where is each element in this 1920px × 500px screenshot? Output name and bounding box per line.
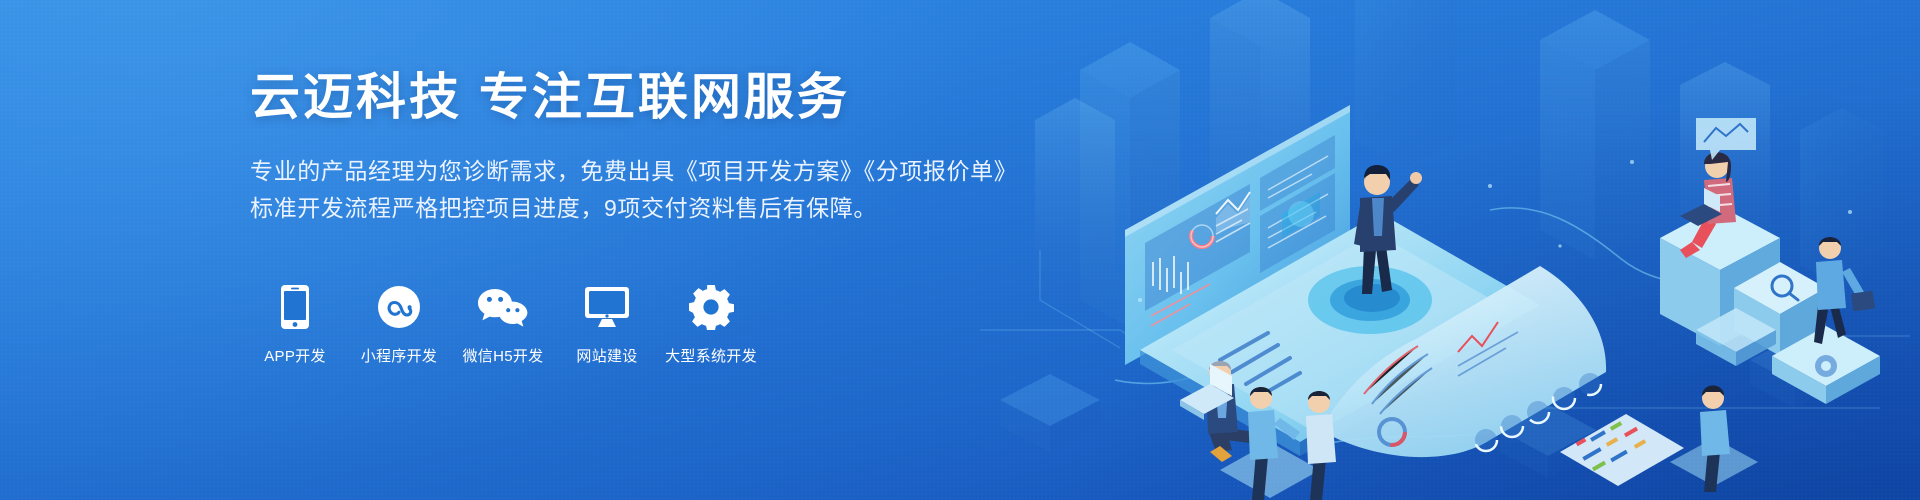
service-item-wechat[interactable]: 微信H5开发 (458, 283, 548, 366)
person-bottom-c (1670, 386, 1758, 493)
monitor-icon (584, 283, 630, 331)
service-label-miniprogram: 小程序开发 (361, 345, 438, 366)
service-icon-row: APP开发 小程序开发 (250, 283, 770, 366)
service-item-system[interactable]: 大型系统开发 (666, 283, 756, 366)
subtitle-line-1: 专业的产品经理为您诊断需求，免费出具《项目开发方案》《分项报价单》 (250, 153, 1017, 190)
gear-icon (688, 283, 734, 331)
isometric-tech-illustration (1020, 0, 1920, 500)
person-walking-right (1814, 237, 1875, 344)
wechat-icon (477, 283, 529, 331)
banner-subtitle: 专业的产品经理为您诊断需求，免费出具《项目开发方案》《分项报价单》 标准开发流程… (250, 153, 1017, 228)
service-item-website[interactable]: 网站建设 (562, 283, 652, 366)
hero-banner: 云迈科技 专注互联网服务 专业的产品经理为您诊断需求，免费出具《项目开发方案》《… (0, 0, 1920, 500)
page-title: 云迈科技 专注互联网服务 (250, 68, 1017, 127)
service-label-system: 大型系统开发 (665, 345, 757, 366)
code-panel (1560, 414, 1684, 486)
banner-text-block: 云迈科技 专注互联网服务 专业的产品经理为您诊断需求，免费出具《项目开发方案》《… (250, 68, 1017, 228)
service-item-app[interactable]: APP开发 (250, 283, 340, 366)
service-label-wechat: 微信H5开发 (463, 345, 544, 366)
subtitle-line-2: 标准开发流程严格把控项目进度，9项交付资料售后有保障。 (250, 190, 1017, 227)
mobile-phone-icon (280, 283, 310, 331)
service-label-app: APP开发 (264, 345, 326, 366)
service-item-miniprogram[interactable]: 小程序开发 (354, 283, 444, 366)
service-label-website: 网站建设 (576, 345, 637, 366)
mini-program-icon (377, 283, 421, 331)
